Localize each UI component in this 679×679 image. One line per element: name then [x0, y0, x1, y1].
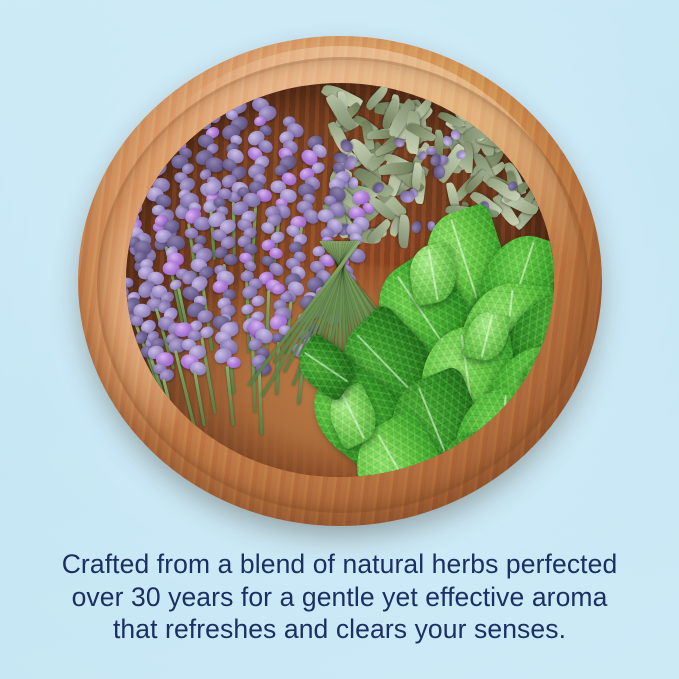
product-image-canvas: Crafted from a blend of natural herbs pe… — [0, 0, 679, 679]
caption-text: Crafted from a blend of natural herbs pe… — [0, 548, 679, 646]
caption-line-1: Crafted from a blend of natural herbs pe… — [0, 548, 679, 581]
lavender-bud — [126, 277, 134, 287]
mint-cluster — [297, 217, 554, 477]
lavender-stem — [194, 372, 206, 426]
caption-line-3: that refreshes and clears your senses. — [0, 613, 679, 646]
caption-line-2: over 30 years for a gentle yet effective… — [0, 581, 679, 614]
lavender-bud — [484, 106, 492, 116]
lavender-bud — [126, 259, 128, 276]
wooden-bowl — [78, 36, 602, 526]
herb-arrangement — [126, 83, 554, 477]
